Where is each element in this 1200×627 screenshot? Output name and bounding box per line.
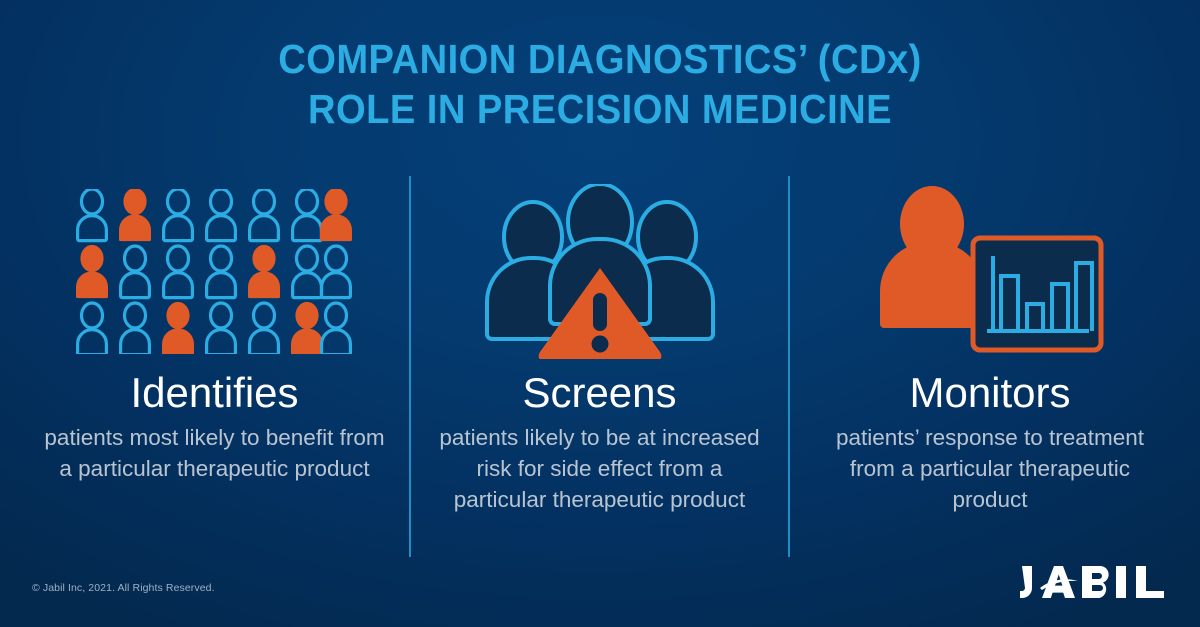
column-heading: Identifies: [20, 370, 409, 416]
column-monitors: Monitors patients’ response to treatment…: [790, 176, 1190, 515]
infographic-canvas: COMPANION DIAGNOSTICS’ (CDx) ROLE IN PRE…: [0, 0, 1200, 627]
column-blurb: patients’ response to treatment from a p…: [790, 422, 1190, 515]
title-line-1: COMPANION DIAGNOSTICS’ (CDx): [42, 34, 1158, 84]
jabil-logo: [1020, 560, 1168, 602]
person-bar-chart-monitor-icon: [790, 176, 1190, 366]
people-grid-svg: [76, 189, 354, 354]
page-title: COMPANION DIAGNOSTICS’ (CDx) ROLE IN PRE…: [0, 34, 1200, 134]
monitor-icon-svg: [875, 186, 1105, 356]
column-heading: Screens: [411, 370, 788, 416]
people-group-warning-icon: [411, 176, 788, 366]
bar-chart-panel: [973, 238, 1101, 350]
title-line-2: ROLE IN PRECISION MEDICINE: [42, 84, 1158, 134]
column-heading: Monitors: [790, 370, 1190, 416]
column-identifies: Identifies patients most likely to benef…: [20, 176, 409, 484]
person-orange-icon: [880, 186, 984, 328]
column-blurb: patients most likely to benefit from a p…: [20, 422, 409, 484]
column-screens: Screens patients likely to be at increas…: [411, 176, 788, 515]
people-group-warning-svg: [484, 184, 716, 359]
column-blurb: patients likely to be at increased risk …: [411, 422, 788, 515]
people-grid-icon: [20, 176, 409, 366]
copyright-text: © Jabil Inc, 2021. All Rights Reserved.: [32, 582, 215, 594]
